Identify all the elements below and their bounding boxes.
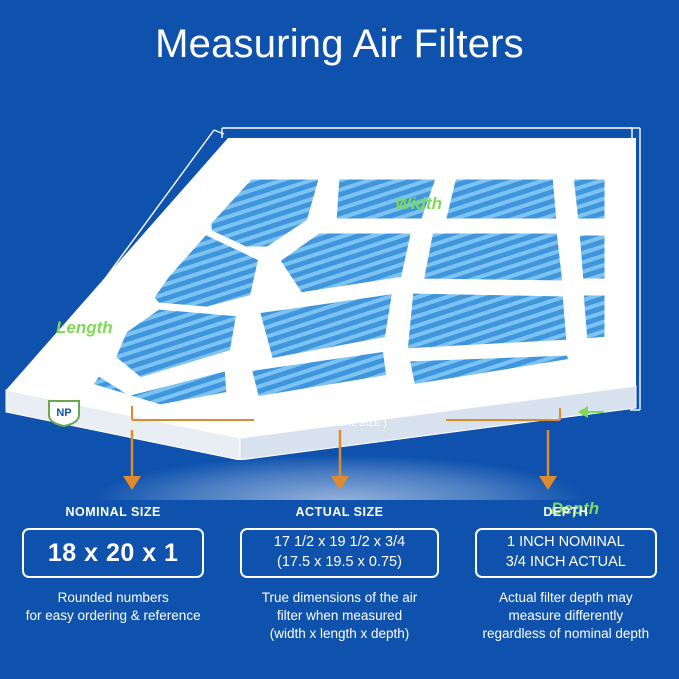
card-depth-note: Actual filter depth may measure differen…: [461, 589, 671, 644]
card-nominal-size-heading: NOMINAL SIZE: [8, 505, 218, 519]
card-actual-size-value-line-1: 17 1/2 x 19 1/2 x 3/4: [274, 533, 405, 553]
card-actual-size-note-line-2: filter when measured: [234, 607, 444, 625]
card-depth: DEPTH 1 INCH NOMINAL 3/4 INCH ACTUAL Act…: [453, 505, 679, 644]
card-actual-size-heading: ACTUAL SIZE: [234, 505, 444, 519]
air-filter-measuring-infographic: Measuring Air Filters: [0, 0, 679, 679]
card-depth-note-line-3: regardless of nominal depth: [461, 625, 671, 643]
logo-text: NP: [56, 407, 71, 419]
nominal-size-band-title: NOMINAL SIZE: [250, 399, 450, 416]
card-nominal-size-note-line-1: Rounded numbers: [8, 589, 218, 607]
card-connector-arrows: [0, 430, 679, 510]
card-actual-size-note-line-3: (width x length x depth): [234, 625, 444, 643]
page-title: Measuring Air Filters: [0, 22, 679, 67]
summary-cards: NOMINAL SIZE 18 x 20 x 1 Rounded numbers…: [0, 505, 679, 644]
nominal-size-band-subtitle: ( ACTUAL SIZE ): [250, 418, 450, 428]
card-depth-value-line-1: 1 INCH NOMINAL: [507, 533, 625, 553]
card-depth-note-line-1: Actual filter depth may: [461, 589, 671, 607]
card-nominal-size-value: 18 x 20 x 1: [22, 528, 204, 578]
card-depth-value-line-2: 3/4 INCH ACTUAL: [506, 553, 626, 573]
card-depth-value: 1 INCH NOMINAL 3/4 INCH ACTUAL: [475, 528, 657, 578]
nominal-size-band: NOMINAL SIZE ( ACTUAL SIZE ): [250, 399, 450, 428]
card-nominal-size-note: Rounded numbers for easy ordering & refe…: [8, 589, 218, 625]
np-shield-logo: NP: [47, 399, 81, 427]
card-actual-size-value: 17 1/2 x 19 1/2 x 3/4 (17.5 x 19.5 x 0.7…: [240, 528, 438, 578]
filter-media: [36, 157, 616, 421]
card-depth-heading: DEPTH: [461, 505, 671, 519]
card-actual-size-value-line-2: (17.5 x 19.5 x 0.75): [277, 553, 402, 573]
label-length-text: Length: [56, 318, 113, 338]
card-actual-size: ACTUAL SIZE 17 1/2 x 19 1/2 x 3/4 (17.5 …: [226, 505, 452, 644]
label-width-text: Width: [395, 194, 442, 214]
card-nominal-size: NOMINAL SIZE 18 x 20 x 1 Rounded numbers…: [0, 505, 226, 644]
card-actual-size-note: True dimensions of the air filter when m…: [234, 589, 444, 644]
card-nominal-size-note-line-2: for easy ordering & reference: [8, 607, 218, 625]
card-nominal-size-value-line-1: 18 x 20 x 1: [48, 539, 179, 568]
card-depth-note-line-2: measure differently: [461, 607, 671, 625]
card-actual-size-note-line-1: True dimensions of the air: [234, 589, 444, 607]
